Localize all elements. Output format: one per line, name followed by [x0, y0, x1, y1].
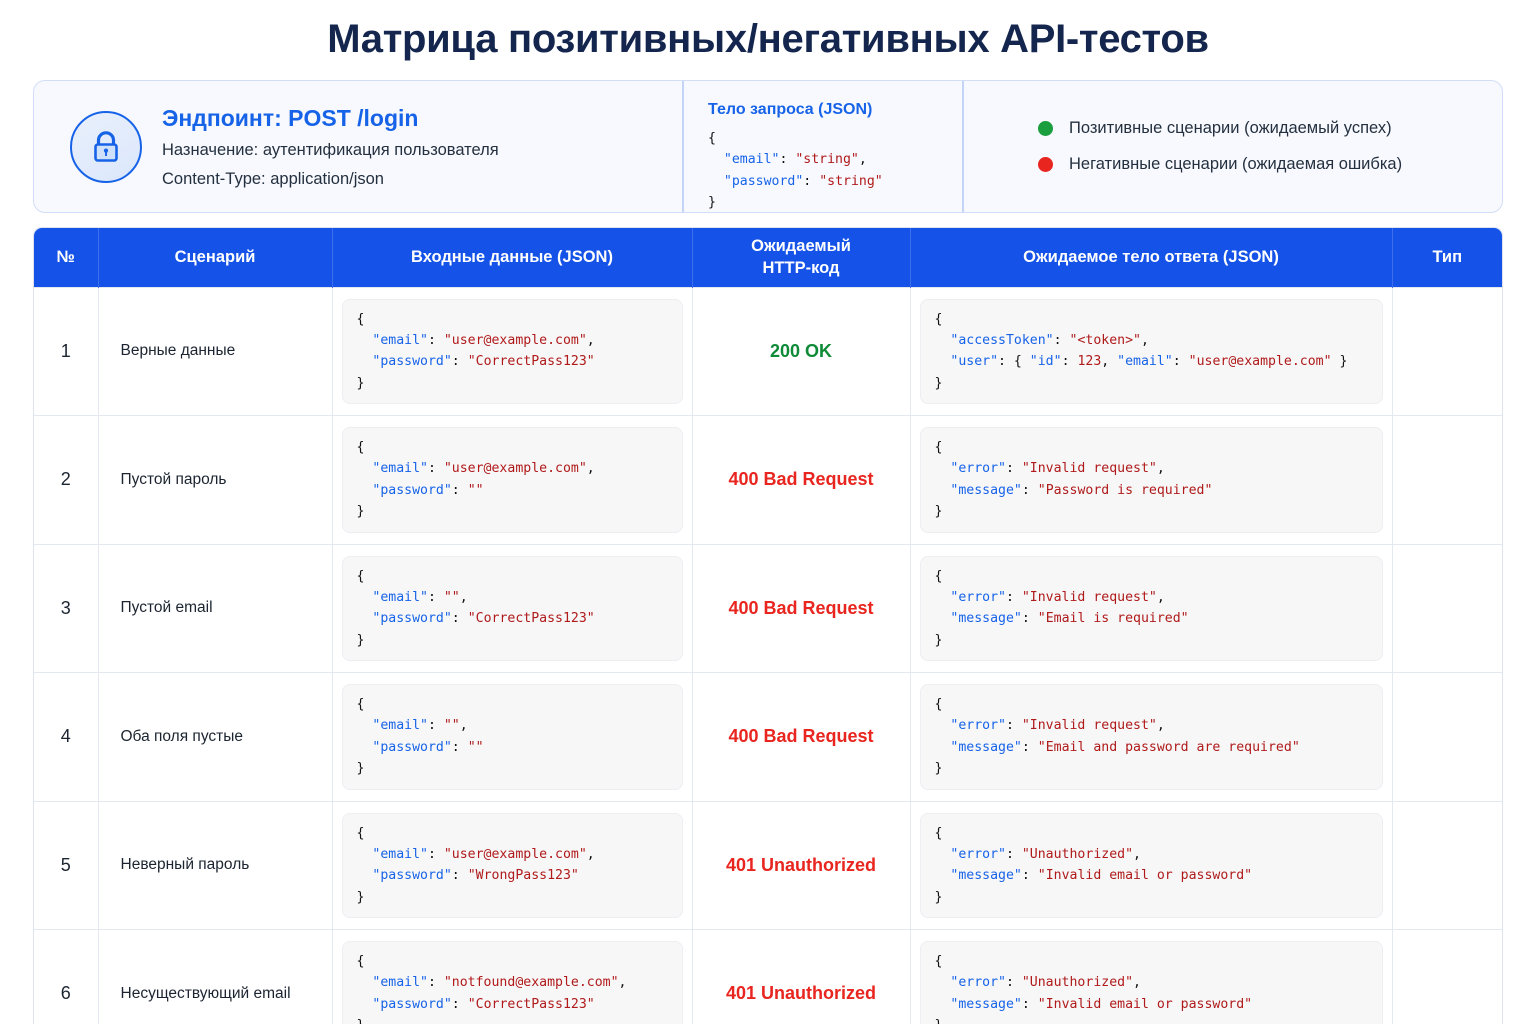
cell-scenario: Пустой email: [98, 544, 332, 673]
response-json-code: { "error": "Invalid request", "message":…: [935, 437, 1368, 523]
page-title: Матрица позитивных/негативных API-тестов: [33, 0, 1503, 80]
legend-dot-green: [1038, 121, 1053, 136]
input-json-code: { "email": "", "password": "" }: [357, 694, 668, 780]
table-header: № Сценарий Входные данные (JSON) Ожидаем…: [34, 228, 1502, 287]
input-json-code: { "email": "notfound@example.com", "pass…: [357, 951, 668, 1024]
cell-http-code: 401 Unauthorized: [692, 930, 910, 1024]
input-json-box: { "email": "user@example.com", "password…: [342, 427, 683, 533]
test-matrix-table: № Сценарий Входные данные (JSON) Ожидаем…: [34, 228, 1502, 1024]
legend-label-positive: Позитивные сценарии (ожидаемый успех): [1069, 119, 1392, 138]
col-header-input: Входные данные (JSON): [332, 228, 692, 287]
request-body-panel: Тело запроса (JSON) { "email": "string",…: [684, 81, 962, 212]
cell-number: 2: [34, 416, 98, 545]
table-row: 5Неверный пароль{ "email": "user@example…: [34, 801, 1502, 930]
table-body: 1Верные данные{ "email": "user@example.c…: [34, 287, 1502, 1024]
cell-number: 4: [34, 673, 98, 802]
endpoint-summary-card: Эндпоинт: POST /login Назначение: аутент…: [33, 80, 1503, 213]
request-body-code: { "email": "string", "password": "string…: [708, 128, 962, 213]
cell-input: { "email": "user@example.com", "password…: [332, 801, 692, 930]
legend-item-negative: Негативные сценарии (ожидаемая ошибка): [1038, 155, 1502, 174]
cell-number: 6: [34, 930, 98, 1024]
col-header-http-code: Ожидаемый HTTP-код: [692, 228, 910, 287]
cell-input: { "email": "", "password": "" }: [332, 673, 692, 802]
cell-response: { "accessToken": "<token>", "user": { "i…: [910, 287, 1392, 416]
response-json-box: { "error": "Invalid request", "message":…: [920, 556, 1383, 662]
col-header-number: №: [34, 228, 98, 287]
cell-type: [1392, 544, 1502, 673]
lock-icon: [70, 111, 142, 183]
cell-number: 3: [34, 544, 98, 673]
request-body-title: Тело запроса (JSON): [708, 101, 962, 119]
cell-response: { "error": "Invalid request", "message":…: [910, 416, 1392, 545]
response-json-code: { "error": "Invalid request", "message":…: [935, 566, 1368, 652]
endpoint-content-type: Content-Type: application/json: [162, 166, 499, 193]
endpoint-purpose: Назначение: аутентификация пользователя: [162, 137, 499, 164]
table-row: 4Оба поля пустые{ "email": "", "password…: [34, 673, 1502, 802]
col-header-scenario: Сценарий: [98, 228, 332, 287]
cell-number: 5: [34, 801, 98, 930]
cell-input: { "email": "", "password": "CorrectPass1…: [332, 544, 692, 673]
response-json-code: { "accessToken": "<token>", "user": { "i…: [935, 309, 1368, 395]
endpoint-title: Эндпоинт: POST /login: [162, 101, 499, 136]
cell-http-code: 200 OK: [692, 287, 910, 416]
cell-http-code: 400 Bad Request: [692, 416, 910, 545]
cell-scenario: Оба поля пустые: [98, 673, 332, 802]
cell-type: [1392, 801, 1502, 930]
cell-scenario: Пустой пароль: [98, 416, 332, 545]
response-json-code: { "error": "Unauthorized", "message": "I…: [935, 951, 1368, 1024]
cell-scenario: Неверный пароль: [98, 801, 332, 930]
cell-http-code: 400 Bad Request: [692, 673, 910, 802]
table-row: 2Пустой пароль{ "email": "user@example.c…: [34, 416, 1502, 545]
cell-type: [1392, 673, 1502, 802]
cell-number: 1: [34, 287, 98, 416]
table-row: 1Верные данные{ "email": "user@example.c…: [34, 287, 1502, 416]
input-json-box: { "email": "user@example.com", "password…: [342, 813, 683, 919]
response-json-box: { "error": "Unauthorized", "message": "I…: [920, 941, 1383, 1024]
legend-item-positive: Позитивные сценарии (ожидаемый успех): [1038, 119, 1502, 138]
col-header-response: Ожидаемое тело ответа (JSON): [910, 228, 1392, 287]
response-json-box: { "accessToken": "<token>", "user": { "i…: [920, 299, 1383, 405]
cell-type: [1392, 287, 1502, 416]
input-json-box: { "email": "notfound@example.com", "pass…: [342, 941, 683, 1024]
cell-scenario: Верные данные: [98, 287, 332, 416]
poster-root: Матрица позитивных/негативных API-тестов…: [0, 0, 1536, 1024]
cell-response: { "error": "Invalid request", "message":…: [910, 673, 1392, 802]
input-json-box: { "email": "", "password": "" }: [342, 684, 683, 790]
response-json-code: { "error": "Invalid request", "message":…: [935, 694, 1368, 780]
endpoint-info-panel: Эндпоинт: POST /login Назначение: аутент…: [34, 81, 682, 212]
legend-label-negative: Негативные сценарии (ожидаемая ошибка): [1069, 155, 1402, 174]
cell-response: { "error": "Unauthorized", "message": "I…: [910, 930, 1392, 1024]
cell-input: { "email": "notfound@example.com", "pass…: [332, 930, 692, 1024]
table-header-row: № Сценарий Входные данные (JSON) Ожидаем…: [34, 228, 1502, 287]
input-json-code: { "email": "user@example.com", "password…: [357, 437, 668, 523]
response-json-box: { "error": "Invalid request", "message":…: [920, 684, 1383, 790]
cell-http-code: 401 Unauthorized: [692, 801, 910, 930]
cell-scenario: Несуществующий email: [98, 930, 332, 1024]
col-header-type: Тип: [1392, 228, 1502, 287]
input-json-code: { "email": "user@example.com", "password…: [357, 823, 668, 909]
response-json-box: { "error": "Invalid request", "message":…: [920, 427, 1383, 533]
test-matrix-table-wrapper: № Сценарий Входные данные (JSON) Ожидаем…: [33, 227, 1503, 1024]
input-json-box: { "email": "", "password": "CorrectPass1…: [342, 556, 683, 662]
cell-type: [1392, 930, 1502, 1024]
response-json-box: { "error": "Unauthorized", "message": "I…: [920, 813, 1383, 919]
cell-response: { "error": "Unauthorized", "message": "I…: [910, 801, 1392, 930]
response-json-code: { "error": "Unauthorized", "message": "I…: [935, 823, 1368, 909]
input-json-box: { "email": "user@example.com", "password…: [342, 299, 683, 405]
cell-type: [1392, 416, 1502, 545]
legend-dot-red: [1038, 157, 1053, 172]
legend-panel: Позитивные сценарии (ожидаемый успех) Не…: [964, 81, 1502, 212]
cell-input: { "email": "user@example.com", "password…: [332, 416, 692, 545]
input-json-code: { "email": "", "password": "CorrectPass1…: [357, 566, 668, 652]
table-row: 3Пустой email{ "email": "", "password": …: [34, 544, 1502, 673]
cell-response: { "error": "Invalid request", "message":…: [910, 544, 1392, 673]
cell-http-code: 400 Bad Request: [692, 544, 910, 673]
input-json-code: { "email": "user@example.com", "password…: [357, 309, 668, 395]
table-row: 6Несуществующий email{ "email": "notfoun…: [34, 930, 1502, 1024]
cell-input: { "email": "user@example.com", "password…: [332, 287, 692, 416]
